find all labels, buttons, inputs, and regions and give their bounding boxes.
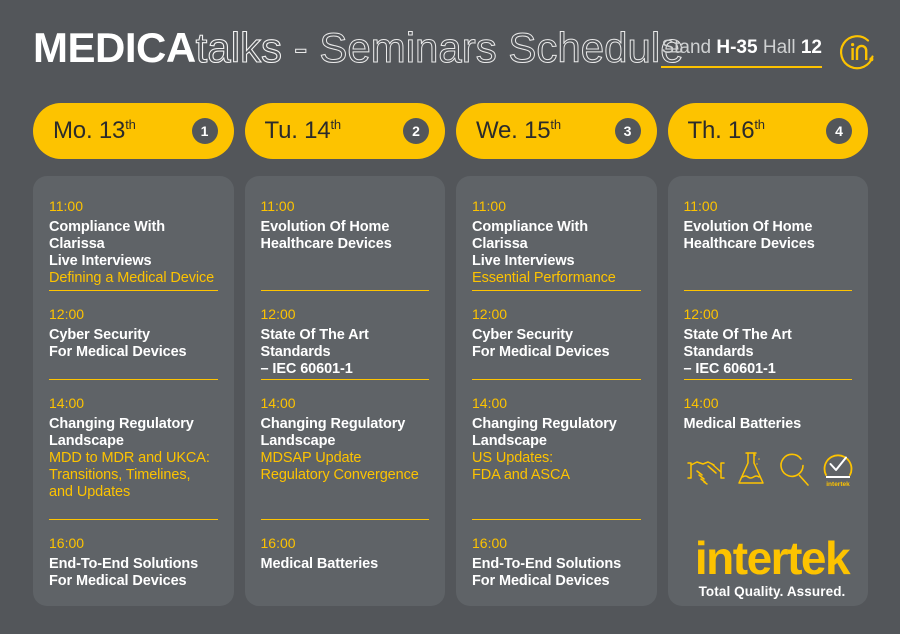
session-item[interactable]: 11:00 Compliance With Clarissa Live Inte… [49, 196, 218, 287]
session-title: Cyber Security [49, 327, 218, 344]
session-subtitle-line2: Transitions, Timelines, [49, 467, 218, 484]
hall-label: Hall [763, 37, 796, 58]
handshake-icon [686, 454, 726, 488]
session-title: Changing Regulatory [472, 416, 641, 433]
title-medica: MEDICA [33, 24, 196, 71]
hall-value: 12 [801, 37, 822, 58]
schedule-column-day-3: 11:00 Compliance With Clarissa Live Inte… [456, 176, 657, 606]
magnifier-icon [776, 452, 810, 488]
session-item[interactable]: 11:00 Evolution Of Home Healthcare Devic… [261, 196, 430, 253]
session-title: End-To-End Solutions [49, 556, 218, 573]
session-divider [261, 379, 430, 380]
tab-day-3[interactable]: We. 15th 3 [456, 103, 657, 159]
flask-icon [735, 450, 767, 488]
intertek-check-icon: intertek [819, 448, 857, 488]
session-divider [261, 519, 430, 520]
session-item[interactable]: 16:00 End-To-End Solutions For Medical D… [49, 533, 218, 590]
session-subtitle: US Updates: [472, 450, 641, 467]
tab-label-1: Mo. 13th [53, 117, 136, 145]
intertek-brand: intertek Total Quality. Assured. [672, 534, 872, 599]
session-item[interactable]: 11:00 Evolution Of Home Healthcare Devic… [684, 196, 853, 253]
session-item[interactable]: 14:00 Changing Regulatory Landscape MDSA… [261, 393, 430, 484]
session-time: 14:00 [684, 393, 853, 413]
tab-number-4: 4 [826, 118, 852, 144]
intertek-in-circle-icon [838, 32, 878, 72]
session-title-line2: Healthcare Devices [261, 236, 430, 253]
session-item[interactable]: 14:00 Changing Regulatory Landscape MDD … [49, 393, 218, 501]
session-time: 12:00 [261, 304, 430, 324]
session-divider [472, 379, 641, 380]
session-title: Evolution Of Home [261, 219, 430, 236]
session-time: 12:00 [684, 304, 853, 324]
session-subtitle: Defining a Medical Device [49, 270, 218, 287]
page-title: MEDICAtalks - Seminars Schedule [33, 24, 684, 72]
session-time: 11:00 [49, 196, 218, 216]
tab-label-4: Th. 16th [688, 117, 765, 145]
session-time: 11:00 [472, 196, 641, 216]
session-item[interactable]: 16:00 End-To-End Solutions For Medical D… [472, 533, 641, 590]
schedule-column-day-2: 11:00 Evolution Of Home Healthcare Devic… [245, 176, 446, 606]
session-title: Evolution Of Home [684, 219, 853, 236]
session-item[interactable]: 16:00 Medical Batteries [261, 533, 430, 573]
session-divider [49, 519, 218, 520]
session-time: 12:00 [49, 304, 218, 324]
session-time: 16:00 [472, 533, 641, 553]
session-subtitle: MDD to MDR and UKCA: [49, 450, 218, 467]
session-item[interactable]: 14:00 Medical Batteries [684, 393, 853, 433]
session-divider [472, 519, 641, 520]
session-item[interactable]: 14:00 Changing Regulatory Landscape US U… [472, 393, 641, 484]
session-title: Medical Batteries [684, 416, 853, 433]
session-title: Compliance With Clarissa [49, 219, 218, 253]
intertek-wordmark: intertek [672, 534, 872, 582]
service-icons: intertek [686, 448, 858, 488]
session-title-line2: For Medical Devices [49, 573, 218, 590]
day-tabs: Mo. 13th 1 Tu. 14th 2 We. 15th 3 Th. 16t… [33, 103, 868, 159]
session-time: 14:00 [472, 393, 641, 413]
tab-day-2[interactable]: Tu. 14th 2 [245, 103, 446, 159]
session-title: Changing Regulatory [49, 416, 218, 433]
intertek-mark-label: intertek [827, 481, 851, 488]
session-divider [472, 290, 641, 291]
session-title: Medical Batteries [261, 556, 430, 573]
session-title-line2: Landscape [49, 433, 218, 450]
title-subtitle: - Seminars Schedule [282, 24, 684, 71]
session-title-line2: Live Interviews [49, 253, 218, 270]
session-title-line2: For Medical Devices [472, 344, 641, 361]
tab-label-2: Tu. 14th [265, 117, 341, 145]
session-title: State Of The Art Standards [261, 327, 430, 361]
session-time: 14:00 [49, 393, 218, 413]
tab-day-4[interactable]: Th. 16th 4 [668, 103, 869, 159]
session-title-line2: – IEC 60601-1 [261, 361, 430, 378]
session-divider [49, 379, 218, 380]
session-subtitle-line3: and Updates [49, 484, 218, 501]
intertek-tagline: Total Quality. Assured. [672, 584, 872, 599]
session-subtitle-line2: Regulatory Convergence [261, 467, 430, 484]
tab-number-1: 1 [192, 118, 218, 144]
title-talks: talks [196, 24, 282, 71]
stand-value: H-35 [716, 37, 757, 58]
session-item[interactable]: 12:00 State Of The Art Standards – IEC 6… [261, 304, 430, 378]
session-title-line2: For Medical Devices [49, 344, 218, 361]
session-title-line2: For Medical Devices [472, 573, 641, 590]
session-title-line2: Landscape [261, 433, 430, 450]
tab-number-2: 2 [403, 118, 429, 144]
session-time: 11:00 [684, 196, 853, 216]
tab-label-3: We. 15th [476, 117, 561, 145]
session-title-line2: Live Interviews [472, 253, 641, 270]
session-subtitle: Essential Performance [472, 270, 641, 287]
tab-number-3: 3 [615, 118, 641, 144]
session-title-line2: Landscape [472, 433, 641, 450]
schedule-column-day-1: 11:00 Compliance With Clarissa Live Inte… [33, 176, 234, 606]
session-time: 11:00 [261, 196, 430, 216]
session-title: State Of The Art Standards [684, 327, 853, 361]
session-item[interactable]: 11:00 Compliance With Clarissa Live Inte… [472, 196, 641, 287]
session-item[interactable]: 12:00 State Of The Art Standards – IEC 6… [684, 304, 853, 378]
page-header: MEDICAtalks - Seminars Schedule Stand H-… [0, 0, 900, 96]
session-divider [684, 290, 853, 291]
stand-location: Stand H-35 Hall 12 [661, 36, 822, 68]
session-subtitle-line2: FDA and ASCA [472, 467, 641, 484]
session-time: 16:00 [49, 533, 218, 553]
session-time: 12:00 [472, 304, 641, 324]
session-time: 14:00 [261, 393, 430, 413]
session-title: End-To-End Solutions [472, 556, 641, 573]
tab-day-1[interactable]: Mo. 13th 1 [33, 103, 234, 159]
session-title: Cyber Security [472, 327, 641, 344]
session-item[interactable]: 12:00 Cyber Security For Medical Devices [472, 304, 641, 361]
session-divider [261, 290, 430, 291]
session-divider [684, 379, 853, 380]
stand-label: Stand [661, 37, 711, 58]
session-title-line2: Healthcare Devices [684, 236, 853, 253]
session-subtitle: MDSAP Update [261, 450, 430, 467]
session-item[interactable]: 12:00 Cyber Security For Medical Devices [49, 304, 218, 361]
session-divider [49, 290, 218, 291]
session-time: 16:00 [261, 533, 430, 553]
session-title: Compliance With Clarissa [472, 219, 641, 253]
session-title-line2: – IEC 60601-1 [684, 361, 853, 378]
session-title: Changing Regulatory [261, 416, 430, 433]
